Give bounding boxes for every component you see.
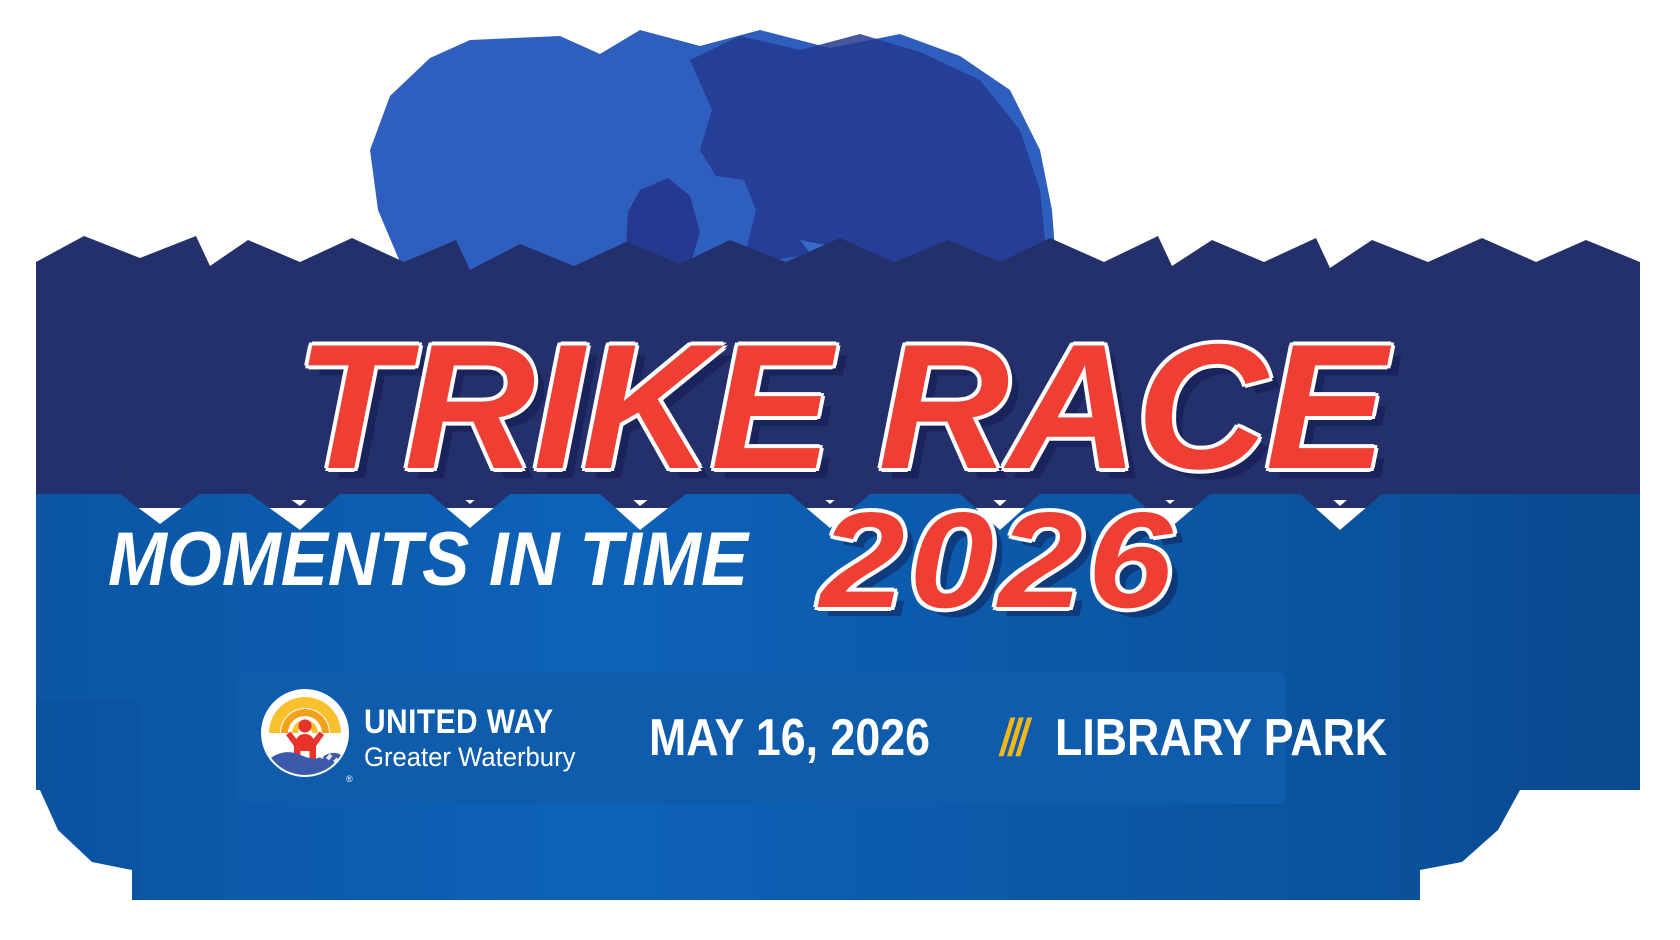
event-date: MAY 16, 2026 — [649, 708, 930, 768]
sponsor-name: UNITED WAY — [364, 705, 560, 739]
united-way-logo-slot — [262, 695, 348, 781]
event-details: MAY 16, 2026 /// LIBRARY PARK — [649, 708, 1441, 768]
headline-trike-race: TRIKE RACE — [0, 318, 1680, 496]
headline-year: 2026 — [820, 492, 1177, 628]
sponsor-chapter: Greater Waterbury — [364, 744, 575, 771]
event-venue: LIBRARY PARK — [1055, 708, 1387, 768]
logo-canvas: ® TRIKE RACE MOMENTS IN TIME 2026 UNITED… — [0, 0, 1680, 940]
headline-tagline: MOMENTS IN TIME — [108, 522, 748, 598]
sponsor-text-block: UNITED WAY Greater Waterbury — [364, 705, 587, 771]
event-banner: UNITED WAY Greater Waterbury MAY 16, 202… — [210, 672, 1285, 804]
separator-slashes: /// — [1000, 708, 1025, 768]
